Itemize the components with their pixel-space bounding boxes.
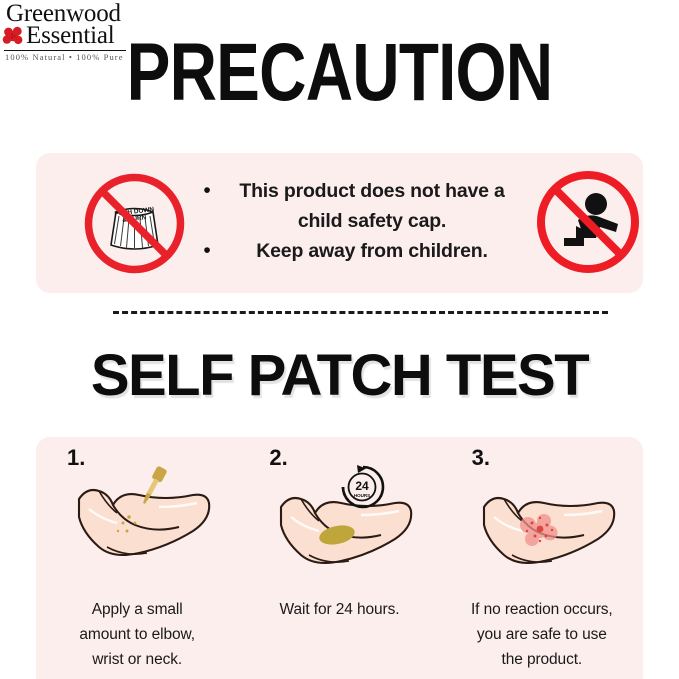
step-2: 2. 24 HOURS: [238, 437, 440, 679]
elbow-with-dropper-icon: [36, 461, 238, 579]
step-caption: Apply a small amount to elbow, wrist or …: [42, 597, 232, 672]
step-3: 3.: [441, 437, 643, 679]
elbow-with-rash-icon: [441, 461, 643, 579]
badge-value: 24: [356, 479, 370, 493]
red-flower-icon: [2, 25, 24, 47]
step-caption: Wait for 24 hours.: [244, 597, 434, 622]
badge-unit: HOURS: [354, 493, 370, 498]
precaution-bullet-list: • This product does not have a child saf…: [196, 176, 526, 266]
bullet-marker: •: [196, 236, 218, 266]
no-child-safety-cap-icon: PUSH DOWN & TURN: [83, 172, 186, 275]
list-item: • This product does not have a child saf…: [196, 176, 526, 236]
elbow-with-24-hours-icon: 24 HOURS: [238, 461, 440, 579]
list-item: • Keep away from children.: [196, 236, 526, 266]
self-patch-test-steps: 1.: [36, 437, 643, 679]
step-caption: If no reaction occurs, you are safe to u…: [447, 597, 637, 672]
step-1: 1.: [36, 437, 238, 679]
page-title-self-patch-test: SELF PATCH TEST: [0, 344, 679, 408]
page-title-precaution: PRECAUTION: [68, 32, 611, 114]
section-divider: [113, 311, 608, 314]
bullet-marker: •: [196, 176, 218, 206]
no-children-icon: [534, 168, 642, 276]
precaution-bullet-1: This product does not have a child safet…: [218, 176, 526, 236]
precaution-bullet-2: Keep away from children.: [218, 236, 526, 266]
